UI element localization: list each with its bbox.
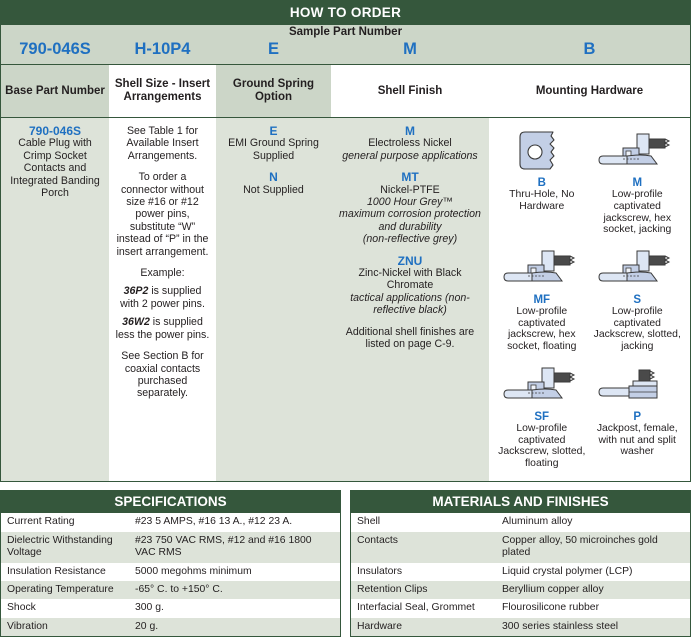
- ground-spring-code-n: N: [221, 171, 326, 183]
- jackpost-icon: [591, 361, 685, 411]
- column-body-shell-size: See Table 1 for Available Insert Arrange…: [109, 118, 216, 481]
- hardware-code-sf: SF: [495, 411, 589, 423]
- shell-finish-note-m: general purpose applications: [336, 150, 484, 162]
- spec-value: 20 g.: [129, 618, 340, 636]
- hardware-code-s: S: [591, 294, 685, 306]
- mounting-hardware-grid: B Thru-Hole, No Hardware: [494, 125, 685, 475]
- sample-part-number-label: Sample Part Number: [1, 25, 690, 40]
- materials-title: MATERIALS AND FINISHES: [351, 491, 690, 513]
- column-body-shell-finish: M Electroless Nickel general purpose app…: [331, 118, 489, 481]
- table-row: Interfacial Seal, Grommet Flourosilicone…: [351, 599, 690, 617]
- spec-key: Current Rating: [1, 513, 129, 531]
- shell-finish-name-mt: Nickel-PTFE: [336, 184, 484, 196]
- jackscrew-icon: [495, 244, 589, 294]
- shell-size-example-2: 36W2 is supplied less the power pins.: [114, 316, 211, 341]
- shell-size-example-1: 36P2 is supplied with 2 power pins.: [114, 285, 211, 310]
- jackscrew-icon: [591, 244, 685, 294]
- shell-size-example-label: Example:: [114, 267, 211, 279]
- hardware-option-sf: SF Low-profile captivated Jackscrew, slo…: [494, 359, 590, 476]
- column-body-ground-spring: E EMI Ground Spring Supplied N Not Suppl…: [216, 118, 331, 481]
- spec-value: #23 5 AMPS, #16 13 A., #12 23 A.: [129, 513, 340, 531]
- hardware-option-s: S Low-profile captivated Jackscrew, slot…: [590, 242, 686, 359]
- hardware-caption-s: Low-profile captivated Jackscrew, slotte…: [591, 306, 685, 352]
- shell-size-line1: See Table 1 for Available Insert Arrange…: [114, 125, 211, 162]
- table-row: Contacts Copper alloy, 50 microinches go…: [351, 532, 690, 563]
- sample-segment-ground-spring: E: [216, 40, 331, 59]
- table-row: Shell Aluminum alloy: [351, 513, 690, 531]
- hardware-caption-b: Thru-Hole, No Hardware: [495, 189, 589, 212]
- table-row: Insulators Liquid crystal polymer (LCP): [351, 563, 690, 581]
- column-header-ground-spring: Ground Spring Option: [216, 65, 331, 117]
- specifications-title: SPECIFICATIONS: [1, 491, 340, 513]
- hardware-option-p: P Jackpost, female, with nut and split w…: [590, 359, 686, 476]
- jackscrew-icon: [495, 361, 589, 411]
- material-key: Shell: [351, 513, 496, 531]
- shell-finish-footnote: Additional shell finishes are listed on …: [336, 326, 484, 351]
- hardware-option-b: B Thru-Hole, No Hardware: [494, 125, 590, 242]
- shell-size-line3: See Section B for coaxial contacts purch…: [114, 350, 211, 400]
- material-key: Interfacial Seal, Grommet: [351, 599, 496, 617]
- sample-segment-shell-finish: M: [331, 40, 489, 59]
- base-part-code: 790-046S: [6, 125, 104, 137]
- sample-part-number-row: 790-046S H-10P4 E M B: [1, 40, 690, 64]
- materials-table: MATERIALS AND FINISHES Shell Aluminum al…: [350, 490, 691, 637]
- how-to-order-title: HOW TO ORDER: [1, 1, 690, 25]
- material-value: Flourosilicone rubber: [496, 599, 690, 617]
- hardware-caption-m: Low-profile captivated jackscrew, hex so…: [591, 189, 685, 235]
- column-header-shell-finish: Shell Finish: [331, 65, 489, 117]
- spec-key: Vibration: [1, 618, 129, 636]
- column-header-shell-size: Shell Size - Insert Arrangements: [109, 65, 216, 117]
- spec-key: Dielectric Withstanding Voltage: [1, 532, 129, 563]
- column-header-mounting-hardware: Mounting Hardware: [489, 65, 690, 117]
- shell-finish-code-m: M: [336, 125, 484, 137]
- table-row: Shock 300 g.: [1, 599, 340, 617]
- shell-finish-trademark-mt: 1000 Hour Grey™: [336, 196, 484, 208]
- example-1-code: 36P2: [124, 285, 149, 297]
- thru-hole-icon: [495, 127, 589, 177]
- shell-finish-note-mt: maximum corrosion protection and durabil…: [336, 208, 484, 233]
- specifications-table: SPECIFICATIONS Current Rating #23 5 AMPS…: [0, 490, 341, 637]
- table-row: Operating Temperature -65° C. to +150° C…: [1, 581, 340, 599]
- shell-finish-code-mt: MT: [336, 171, 484, 183]
- material-value: Copper alloy, 50 microinches gold plated: [496, 532, 690, 563]
- column-header-row: Base Part Number Shell Size - Insert Arr…: [1, 64, 690, 117]
- hardware-code-m: M: [591, 177, 685, 189]
- hardware-caption-mf: Low-profile captivated jackscrew, hex so…: [495, 306, 589, 352]
- hardware-code-mf: MF: [495, 294, 589, 306]
- spec-value: 300 g.: [129, 599, 340, 617]
- material-value: Beryllium copper alloy: [496, 581, 690, 599]
- table-row: Dielectric Withstanding Voltage #23 750 …: [1, 532, 340, 563]
- table-row: Current Rating #23 5 AMPS, #16 13 A., #1…: [1, 513, 340, 531]
- table-row: Vibration 20 g.: [1, 618, 340, 636]
- sample-segment-base-part: 790-046S: [1, 40, 109, 59]
- shell-finish-name-znu: Zinc-Nickel with Black Chromate: [336, 267, 484, 292]
- hardware-caption-p: Jackpost, female, with nut and split was…: [591, 423, 685, 458]
- ground-spring-text-e: EMI Ground Spring Supplied: [228, 137, 319, 161]
- spec-key: Operating Temperature: [1, 581, 129, 599]
- ground-spring-text-n: Not Supplied: [243, 184, 304, 196]
- material-key: Hardware: [351, 618, 496, 636]
- shell-finish-note2-mt: (non-reflective grey): [336, 233, 484, 245]
- material-key: Insulators: [351, 563, 496, 581]
- spec-key: Insulation Resistance: [1, 563, 129, 581]
- material-value: Liquid crystal polymer (LCP): [496, 563, 690, 581]
- hardware-code-b: B: [495, 177, 589, 189]
- material-value: Aluminum alloy: [496, 513, 690, 531]
- hardware-code-p: P: [591, 411, 685, 423]
- column-body-row: 790-046S Cable Plug with Crimp Socket Co…: [1, 117, 690, 481]
- table-row: Hardware 300 series stainless steel: [351, 618, 690, 636]
- sample-segment-mounting-hardware: B: [489, 40, 690, 59]
- hardware-caption-sf: Low-profile captivated Jackscrew, slotte…: [495, 423, 589, 469]
- shell-finish-note-znu: tactical applications (non-reflective bl…: [336, 292, 484, 317]
- ground-spring-code-e: E: [221, 125, 326, 137]
- spec-value: #23 750 VAC RMS, #12 and #16 1800 VAC RM…: [129, 532, 340, 563]
- sample-part-number-band: Sample Part Number 790-046S H-10P4 E M B: [1, 25, 690, 64]
- how-to-order-block: HOW TO ORDER Sample Part Number 790-046S…: [0, 0, 691, 482]
- shell-finish-name-m: Electroless Nickel: [336, 137, 484, 149]
- hardware-option-mf: MF Low-profile captivated jackscrew, hex…: [494, 242, 590, 359]
- datasheet-page: HOW TO ORDER Sample Part Number 790-046S…: [0, 0, 691, 569]
- shell-finish-code-znu: ZNU: [336, 255, 484, 267]
- column-body-mounting-hardware: B Thru-Hole, No Hardware: [489, 118, 690, 481]
- sample-segment-shell-size: H-10P4: [109, 40, 216, 59]
- base-part-description: Cable Plug with Crimp Socket Contacts an…: [10, 137, 100, 199]
- spec-value: 5000 megohms minimum: [129, 563, 340, 581]
- bottom-tables: SPECIFICATIONS Current Rating #23 5 AMPS…: [0, 490, 691, 637]
- hardware-option-m: M Low-profile captivated jackscrew, hex …: [590, 125, 686, 242]
- material-key: Retention Clips: [351, 581, 496, 599]
- spec-value: -65° C. to +150° C.: [129, 581, 340, 599]
- shell-size-line2: To order a connector without size #16 or…: [114, 171, 211, 258]
- table-row: Insulation Resistance 5000 megohms minim…: [1, 563, 340, 581]
- jackscrew-icon: [591, 127, 685, 177]
- example-2-code: 36W2: [122, 316, 150, 328]
- material-key: Contacts: [351, 532, 496, 563]
- column-header-base-part: Base Part Number: [1, 65, 109, 117]
- table-row: Retention Clips Beryllium copper alloy: [351, 581, 690, 599]
- material-value: 300 series stainless steel: [496, 618, 690, 636]
- column-body-base-part: 790-046S Cable Plug with Crimp Socket Co…: [1, 118, 109, 481]
- spec-key: Shock: [1, 599, 129, 617]
